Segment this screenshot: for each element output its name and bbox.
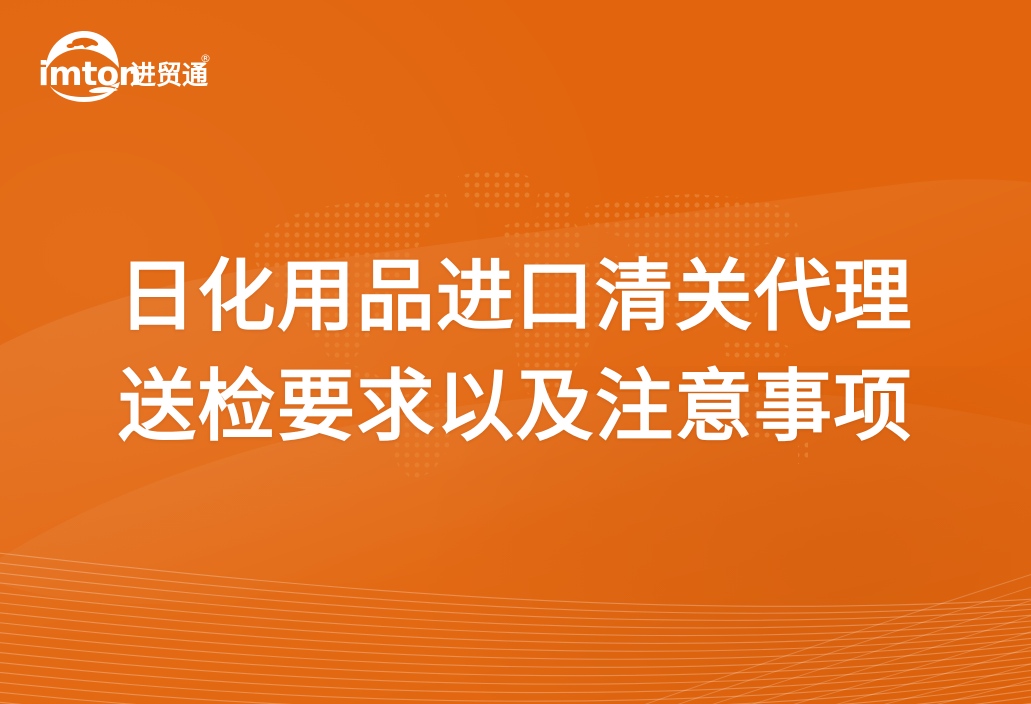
logo-artwork: imton 进贸通 ® (34, 28, 216, 102)
striation-lines (0, 493, 1031, 704)
headline-line-2: 送检要求以及注意事项 (0, 352, 1031, 462)
headline-line-1: 日化用品进口清关代理 (0, 242, 1031, 352)
bottom-line-fan (0, 493, 1031, 704)
page-title: 日化用品进口清关代理 送检要求以及注意事项 (0, 242, 1031, 462)
logo-chinese-name: 进贸通 (130, 61, 208, 91)
logo-wordmark: imton (38, 54, 141, 93)
company-logo[interactable]: imton 进贸通 ® (34, 28, 216, 102)
promotional-banner: imton 进贸通 ® 日化用品进口清关代理 送检要求以及注意事项 (0, 0, 1031, 704)
registered-trademark-icon: ® (200, 52, 211, 65)
